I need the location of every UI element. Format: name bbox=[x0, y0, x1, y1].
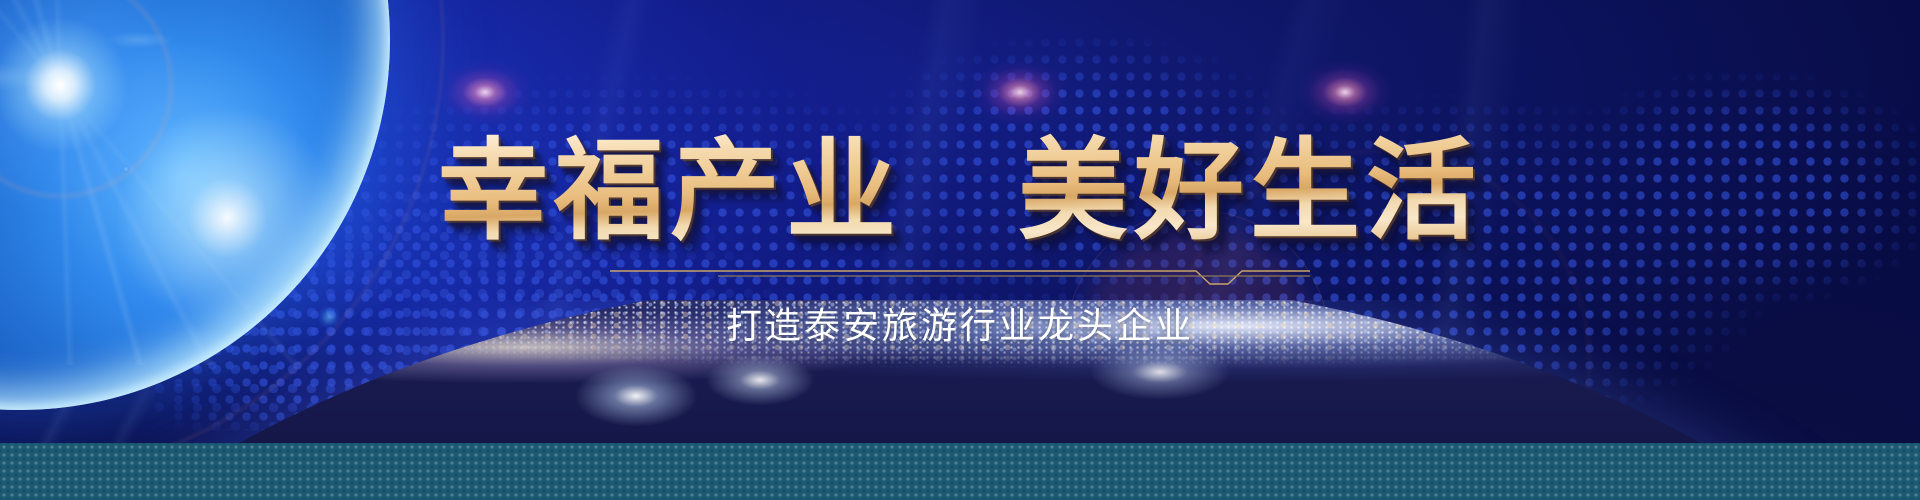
divider-top-line bbox=[610, 271, 1310, 284]
gold-divider-with-v-notch bbox=[610, 262, 1310, 288]
headline-glow-row bbox=[0, 46, 1920, 136]
teal-sparkle-dot bbox=[1141, 373, 1150, 382]
page-title: 幸福产业 美好生活 bbox=[438, 132, 1482, 251]
bottom-teal-bar bbox=[0, 443, 1920, 500]
page-subtitle: 打造泰安旅游行业龙头企业 bbox=[0, 297, 1920, 349]
hero-banner: 幸福产业 美好生活 打造泰安旅游行业龙头企业 bbox=[0, 0, 1920, 500]
